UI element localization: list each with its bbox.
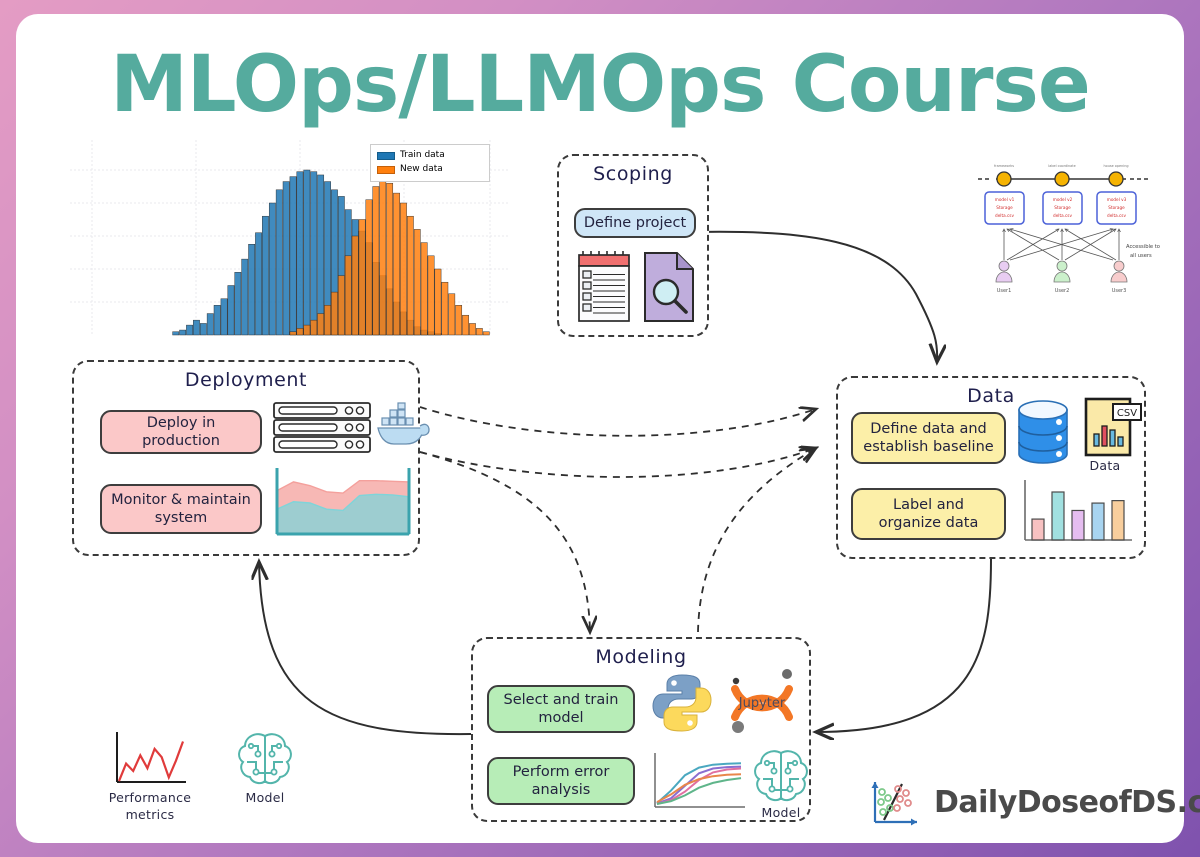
model-decoration: Model (234, 730, 296, 788)
notepad-icon (577, 249, 631, 325)
area-chart-icon (274, 466, 412, 538)
user-access-arrows (1004, 229, 1119, 260)
line-chart-icon (651, 751, 747, 813)
model-version-boxes: model v1Storagedelta.csv model v2Storage… (985, 192, 1136, 224)
svg-text:Storage: Storage (1108, 205, 1125, 210)
csv-label: CSV (1117, 408, 1137, 419)
csv-document-icon: CSV Data (1083, 396, 1145, 460)
data-drift-histogram: Train data New data (70, 140, 510, 340)
svg-text:delta.csv: delta.csv (1107, 213, 1126, 218)
legend-label-train: Train data (400, 149, 445, 163)
python-logo-icon (651, 672, 713, 734)
brain-circuit-icon: Model (750, 747, 812, 805)
accessible-note: Accessible toall users (1126, 244, 1160, 259)
svg-text:model v2: model v2 (1053, 197, 1073, 202)
task-monitor-maintain-system[interactable]: Monitor & maintain system (100, 484, 262, 534)
task-define-data-baseline[interactable]: Define data and establish baseline (851, 412, 1006, 464)
chart-legend: Train data New data (370, 144, 490, 182)
user-label-1: User1 (997, 288, 1012, 294)
arrow-modeling-to-deployment (259, 562, 471, 734)
phase-title-scoping: Scoping (559, 163, 707, 185)
svg-text:model v3: model v3 (1107, 197, 1127, 202)
svg-text:frameworks: frameworks (994, 164, 1014, 168)
brand-name: DailyDoseofDS.com (934, 785, 1200, 820)
task-label-organize-data[interactable]: Label and organize data (851, 488, 1006, 540)
scatter-logo-icon (868, 776, 924, 828)
arrow-data-to-modeling (816, 559, 991, 732)
model-decoration-label: Model (234, 790, 296, 805)
data-icon-caption: Data (1079, 458, 1131, 473)
svg-text:Storage: Storage (996, 205, 1013, 210)
legend-swatch-train (377, 152, 395, 160)
bar-chart-icon (1020, 478, 1136, 546)
svg-text:all users: all users (1130, 253, 1152, 259)
server-rack-icon (272, 401, 372, 455)
phase-scoping[interactable]: Scoping Define project (557, 154, 709, 337)
user-figures (996, 261, 1127, 282)
timeline-tick-labels: frameworkslabel coordinatehouse opening (994, 164, 1129, 168)
task-define-project[interactable]: Define project (574, 208, 696, 238)
task-perform-error-analysis[interactable]: Perform error analysis (487, 757, 635, 805)
user-label-2: User2 (1055, 288, 1070, 294)
arrow-scoping-to-data (695, 232, 937, 362)
legend-swatch-new (377, 166, 395, 174)
arrow-deployment-to-modeling (420, 452, 590, 632)
phase-deployment[interactable]: Deployment Deploy in production Monitor … (72, 360, 420, 556)
arrow-deployment-to-data-lower (420, 448, 816, 477)
task-select-train-model[interactable]: Select and train model (487, 685, 635, 733)
histogram-bars (173, 170, 490, 335)
docker-whale-icon (376, 404, 432, 450)
performance-metrics-label: Performance metrics (102, 790, 198, 824)
svg-text:Accessible to: Accessible to (1126, 244, 1160, 250)
arrow-modeling-to-data (698, 448, 816, 632)
svg-text:model v1: model v1 (995, 197, 1015, 202)
phase-data[interactable]: Data Define data and establish baseline … (836, 376, 1146, 559)
database-icon (1016, 400, 1070, 466)
performance-metrics-decoration: Performance metrics (112, 730, 188, 792)
page-title: MLOps/LLMOps Course (16, 40, 1184, 130)
phase-modeling[interactable]: Modeling Select and train model Perform … (471, 637, 811, 822)
jupyter-label: Jupyter (738, 696, 786, 711)
phase-title-deployment: Deployment (74, 369, 418, 391)
svg-text:delta.csv: delta.csv (995, 213, 1014, 218)
svg-text:label coordinate: label coordinate (1048, 164, 1075, 168)
brand-footer[interactable]: DailyDoseofDS.com (868, 774, 1158, 830)
poster-canvas: MLOps/LLMOps Course Train data New data (16, 14, 1184, 843)
svg-text:house opening: house opening (1103, 164, 1128, 168)
legend-label-new: New data (400, 163, 443, 177)
svg-text:delta.csv: delta.csv (1053, 213, 1072, 218)
model-icon-caption: Model (750, 805, 812, 820)
user-label-3: User3 (1112, 288, 1127, 294)
task-deploy-in-production[interactable]: Deploy in production (100, 410, 262, 454)
jupyter-logo-icon: Jupyter (725, 665, 799, 739)
svg-text:Storage: Storage (1054, 205, 1071, 210)
model-versioning-diagram: frameworkslabel coordinatehouse opening … (974, 156, 1154, 296)
document-search-icon (643, 251, 695, 323)
user-labels: User1 User2 User3 (997, 288, 1127, 294)
arrow-deployment-to-data-upper (420, 407, 816, 436)
